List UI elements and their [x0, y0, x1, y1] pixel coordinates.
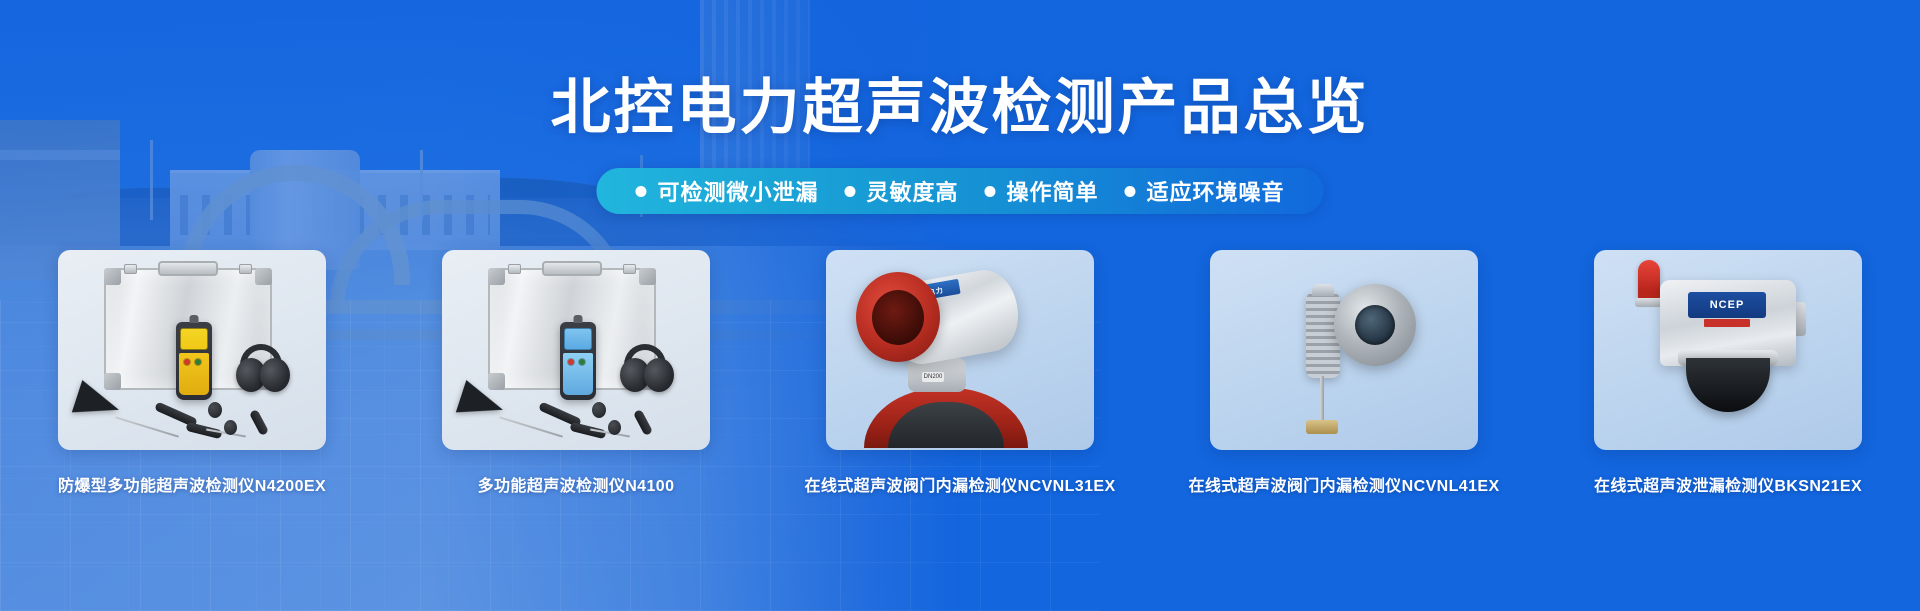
brand-label-5: NCEP — [1710, 299, 1745, 311]
headphones-shape — [236, 346, 294, 390]
sensor-lens — [872, 290, 924, 345]
case-corner-tr — [639, 268, 656, 285]
camera-dome — [1686, 358, 1770, 412]
bullet-dot-icon — [844, 186, 855, 197]
bullet-dot-icon — [1125, 186, 1136, 197]
feature-highlight-bar: 可检测微小泄漏 灵敏度高 操作简单 适应环境噪音 — [596, 168, 1323, 214]
accessory-ring-2 — [224, 420, 237, 435]
case-corner-tr — [255, 268, 272, 285]
accessory-ring-2 — [608, 420, 621, 435]
case-latch-left — [508, 264, 521, 274]
red-flange-ring — [856, 272, 940, 362]
detector-button-2 — [195, 359, 201, 365]
feature-item-3: 操作简单 — [972, 175, 1112, 207]
product-caption-5: 在线式超声波泄漏检测仪BKSN21EX — [1594, 472, 1862, 496]
needle-probe-1 — [499, 416, 563, 437]
detector-screen — [564, 328, 592, 350]
detector-keypad — [563, 353, 593, 395]
product-caption-1: 防爆型多功能超声波检测仪N4200EX — [58, 472, 326, 496]
bullet-dot-icon — [635, 186, 646, 197]
probe-accessory-3 — [633, 409, 653, 436]
feature-label-2: 灵敏度高 — [866, 175, 958, 207]
case-corner-tl — [488, 268, 505, 285]
product-card-5[interactable]: NCEP 在线式超声波泄漏检测仪BKSN21EX — [1536, 250, 1920, 496]
detector-keypad — [179, 353, 209, 395]
product-image-4 — [1210, 250, 1478, 450]
product-image-1 — [58, 250, 326, 450]
accessory-ring-1 — [592, 402, 606, 418]
product-image-3: 北控电力 DN200 — [826, 250, 1094, 450]
alarm-beacon-light — [1638, 260, 1660, 300]
product-caption-2: 多功能超声波检测仪N4100 — [478, 472, 675, 496]
feature-label-3: 操作简单 — [1007, 175, 1099, 207]
product-image-5: NCEP — [1594, 250, 1862, 450]
headphone-cup-right — [260, 358, 290, 392]
feature-item-2: 灵敏度高 — [831, 175, 971, 207]
detector-button-1 — [568, 359, 574, 365]
handheld-detector-shape — [176, 322, 212, 400]
page-title: 北控电力超声波检测产品总览 — [0, 78, 1920, 138]
detector-button-1 — [184, 359, 190, 365]
bullet-dot-icon — [985, 186, 996, 197]
product-card-3[interactable]: 北控电力 DN200 在线式超声波阀门内漏检测仪NCVNL31EX — [768, 250, 1152, 496]
size-tag-3: DN200 — [922, 372, 944, 382]
case-latch-right — [239, 264, 252, 274]
product-caption-3: 在线式超声波阀门内漏检测仪NCVNL31EX — [804, 472, 1115, 496]
detector-screen — [180, 328, 208, 350]
detector-button-2 — [579, 359, 585, 365]
needle-probe-1 — [115, 416, 179, 437]
headphones-shape — [620, 346, 678, 390]
sensor-contact-foot — [1306, 420, 1338, 434]
product-list: 防爆型多功能超声波检测仪N4200EX — [0, 250, 1920, 496]
handheld-detector-shape — [560, 322, 596, 400]
product-caption-4: 在线式超声波阀门内漏检测仪NCVNL41EX — [1188, 472, 1499, 496]
case-latch-right — [623, 264, 636, 274]
case-latch-left — [124, 264, 137, 274]
feature-item-4: 适应环境噪音 — [1112, 175, 1298, 207]
product-image-2 — [442, 250, 710, 450]
brand-plate: NCEP — [1688, 292, 1766, 318]
product-card-1[interactable]: 防爆型多功能超声波检测仪N4200EX — [0, 250, 384, 496]
product-card-4[interactable]: 在线式超声波阀门内漏检测仪NCVNL41EX — [1152, 250, 1536, 496]
feature-label-1: 可检测微小泄漏 — [657, 175, 818, 207]
probe-accessory-3 — [249, 409, 269, 436]
product-card-2[interactable]: 多功能超声波检测仪N4100 — [384, 250, 768, 496]
brand-underline — [1704, 319, 1750, 327]
case-corner-tl — [104, 268, 121, 285]
headphone-cup-right — [644, 358, 674, 392]
feature-item-1: 可检测微小泄漏 — [622, 175, 831, 207]
banner-content: 北控电力超声波检测产品总览 可检测微小泄漏 灵敏度高 操作简单 适应环境噪音 — [0, 0, 1920, 611]
feature-label-4: 适应环境噪音 — [1147, 175, 1285, 207]
sensor-stem — [1320, 376, 1324, 422]
sensor-head-housing — [1334, 284, 1416, 366]
accessory-ring-1 — [208, 402, 222, 418]
pipe-saddle-clamp — [864, 388, 1028, 448]
product-overview-banner: 北控电力超声波检测产品总览 可检测微小泄漏 灵敏度高 操作简单 适应环境噪音 — [0, 0, 1920, 611]
